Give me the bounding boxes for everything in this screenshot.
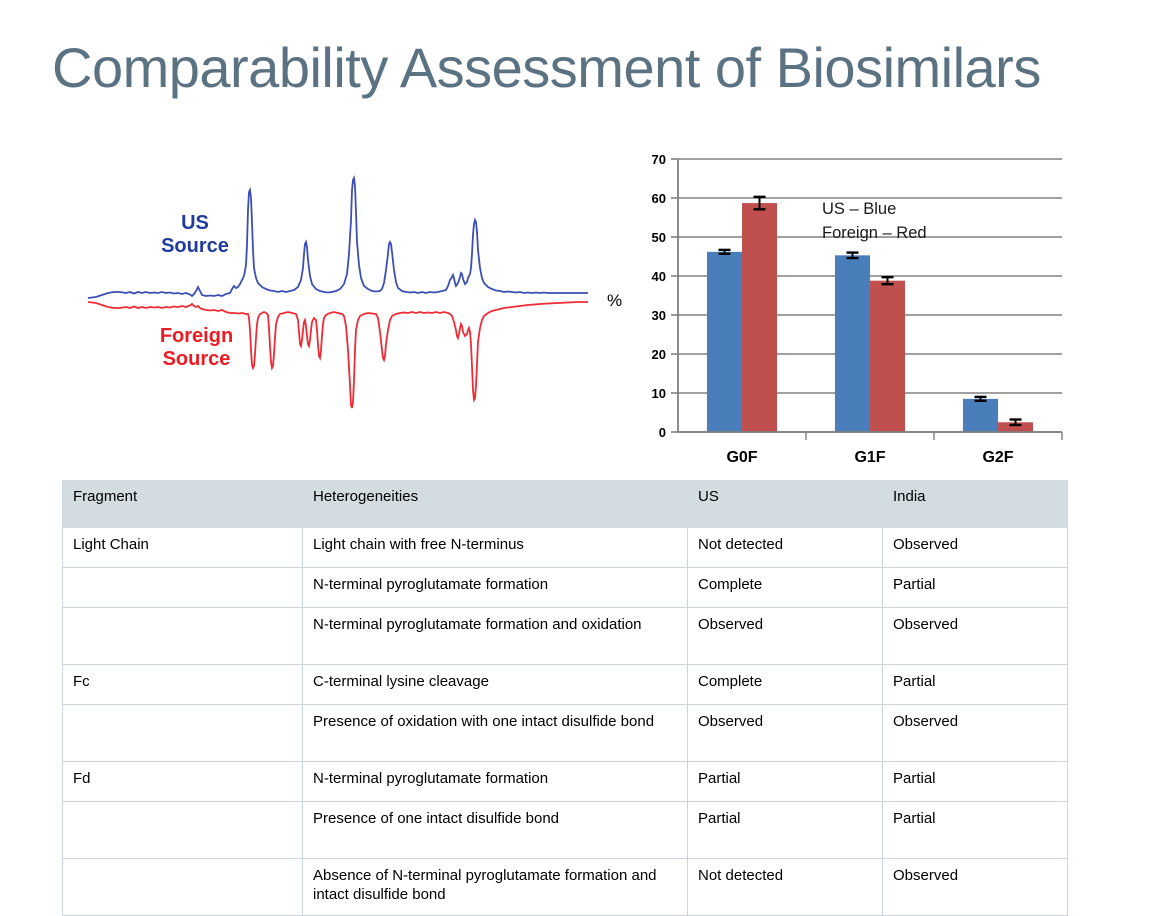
bar-G0F-Foreign xyxy=(742,203,777,432)
cell-india: Partial xyxy=(883,665,1068,705)
cell-india: Partial xyxy=(883,762,1068,802)
cell-us: Observed xyxy=(688,705,883,762)
cell-us: Observed xyxy=(688,608,883,665)
cell-fragment xyxy=(63,859,303,916)
bar-G1F-US xyxy=(835,255,870,432)
cell-us: Complete xyxy=(688,568,883,608)
cell-fragment xyxy=(63,568,303,608)
cell-fragment xyxy=(63,802,303,859)
x-axis-category-label: G2F xyxy=(982,449,1013,466)
table-row: N-terminal pyroglutamate formationComple… xyxy=(63,568,1068,608)
foreign-source-label-line1: Foreign xyxy=(160,325,233,347)
us-source-label-line2: Source xyxy=(161,235,229,257)
bar-G2F-US xyxy=(963,399,998,432)
x-axis-category-label: G1F xyxy=(854,449,885,466)
cell-india: Observed xyxy=(883,608,1068,665)
column-header-fragment: Fragment xyxy=(63,480,303,528)
foreign-source-label: Foreign Source xyxy=(124,325,269,371)
cell-india: Partial xyxy=(883,568,1068,608)
column-header-heterogeneities: Heterogeneities xyxy=(303,480,688,528)
cell-heterogeneity: Presence of oxidation with one intact di… xyxy=(303,705,688,762)
table-row: Absence of N-terminal pyroglutamate form… xyxy=(63,859,1068,916)
table-row: Presence of oxidation with one intact di… xyxy=(63,705,1068,762)
column-header-india: India xyxy=(883,480,1068,528)
cell-india: Observed xyxy=(883,859,1068,916)
us-source-label: US Source xyxy=(140,212,250,258)
cell-us: Not detected xyxy=(688,859,883,916)
chart-legend: US – Blue Foreign – Red xyxy=(822,198,927,246)
cell-heterogeneity: N-terminal pyroglutamate formation and o… xyxy=(303,608,688,665)
table-row: FcC-terminal lysine cleavageCompletePart… xyxy=(63,665,1068,705)
us-source-label-line1: US xyxy=(181,212,209,234)
spectrum-plot-svg xyxy=(88,150,588,470)
y-tick-label: 50 xyxy=(652,230,666,245)
legend-entry-us: US – Blue xyxy=(822,198,927,222)
glycan-distribution-bar-chart: 010203040506070 G0FG1FG2F % US – Blue Fo… xyxy=(600,145,1080,475)
table-row: FdN-terminal pyroglutamate formationPart… xyxy=(63,762,1068,802)
cell-us: Partial xyxy=(688,762,883,802)
foreign-source-label-line2: Source xyxy=(163,348,231,370)
cell-heterogeneity: N-terminal pyroglutamate formation xyxy=(303,762,688,802)
y-tick-label: 70 xyxy=(652,152,666,167)
y-tick-label: 40 xyxy=(652,269,666,284)
cell-fragment xyxy=(63,705,303,762)
cell-india: Observed xyxy=(883,705,1068,762)
cell-heterogeneity: Light chain with free N-terminus xyxy=(303,528,688,568)
cell-fragment: Light Chain xyxy=(63,528,303,568)
table-body: Light ChainLight chain with free N-termi… xyxy=(63,528,1068,916)
page-title: Comparability Assessment of Biosimilars xyxy=(52,38,1142,98)
cell-heterogeneity: Absence of N-terminal pyroglutamate form… xyxy=(303,859,688,916)
table-row: N-terminal pyroglutamate formation and o… xyxy=(63,608,1068,665)
bar-G1F-Foreign xyxy=(870,281,905,432)
chart-x-axis-labels: G0FG1FG2F xyxy=(726,449,1013,466)
legend-entry-foreign: Foreign – Red xyxy=(822,222,927,246)
cell-heterogeneity: N-terminal pyroglutamate formation xyxy=(303,568,688,608)
cell-fragment: Fd xyxy=(63,762,303,802)
cell-us: Partial xyxy=(688,802,883,859)
chart-y-axis-ticks: 010203040506070 xyxy=(652,152,678,440)
y-tick-label: 10 xyxy=(652,386,666,401)
cell-heterogeneity: C-terminal lysine cleavage xyxy=(303,665,688,705)
cell-fragment: Fc xyxy=(63,665,303,705)
cell-fragment xyxy=(63,608,303,665)
nmr-overlay-spectrum-figure: US Source Foreign Source xyxy=(88,150,588,470)
cell-heterogeneity: Presence of one intact disulfide bond xyxy=(303,802,688,859)
cell-us: Not detected xyxy=(688,528,883,568)
table-header-row: Fragment Heterogeneities US India xyxy=(63,480,1068,528)
bar-G0F-US xyxy=(707,252,742,432)
cell-india: Partial xyxy=(883,802,1068,859)
y-tick-label: 60 xyxy=(652,191,666,206)
x-axis-category-label: G0F xyxy=(726,449,757,466)
cell-india: Observed xyxy=(883,528,1068,568)
column-header-us: US xyxy=(688,480,883,528)
table-row: Light ChainLight chain with free N-termi… xyxy=(63,528,1068,568)
y-tick-label: 0 xyxy=(659,425,666,440)
y-axis-label: % xyxy=(607,291,622,311)
y-tick-label: 20 xyxy=(652,347,666,362)
y-tick-label: 30 xyxy=(652,308,666,323)
heterogeneity-comparison-table: Fragment Heterogeneities US India Light … xyxy=(62,480,1068,916)
bar-chart-svg: 010203040506070 G0FG1FG2F xyxy=(600,145,1080,475)
table-row: Presence of one intact disulfide bondPar… xyxy=(63,802,1068,859)
cell-us: Complete xyxy=(688,665,883,705)
